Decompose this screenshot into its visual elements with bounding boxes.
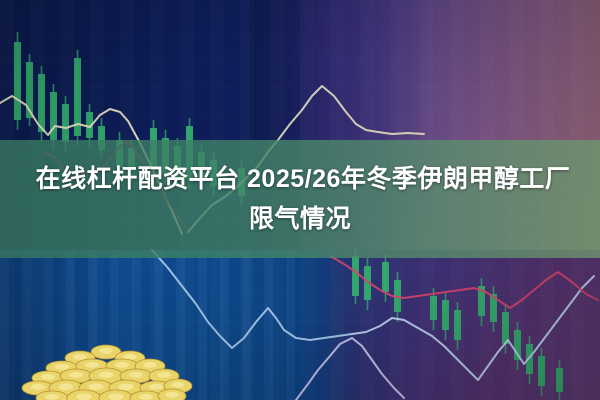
page-title-line-1: 在线杠杆配资平台 2025/26年冬季伊朗甲醇工厂 bbox=[30, 159, 571, 199]
gold-coins-pile bbox=[18, 338, 193, 400]
title-banner-band: 在线杠杆配资平台 2025/26年冬季伊朗甲醇工厂 限气情况 bbox=[0, 140, 600, 258]
page-title-line-2: 限气情况 bbox=[249, 199, 351, 239]
banner-image: 在线杠杆配资平台 2025/26年冬季伊朗甲醇工厂 限气情况 bbox=[0, 0, 600, 400]
